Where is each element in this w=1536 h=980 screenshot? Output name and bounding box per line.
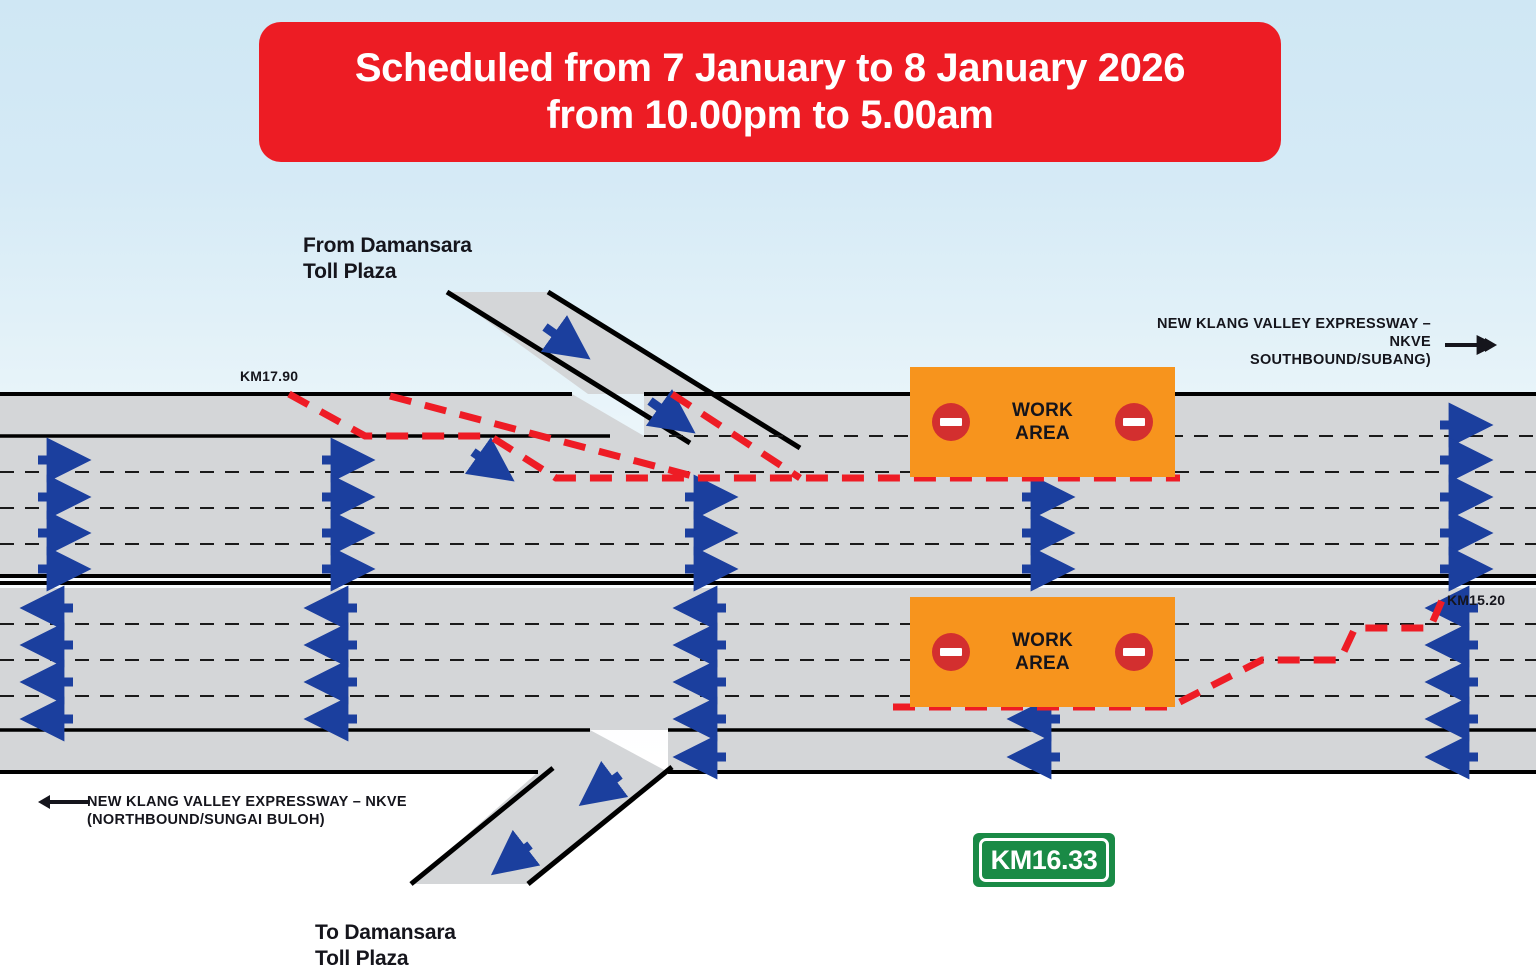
traffic-diversion-diagram: Scheduled from 7 January to 8 January 20… [0,0,1536,980]
direction-arrow-northbound-icon [36,792,92,812]
work-area-northbound: WORK AREA [910,597,1175,707]
label-km-start: KM17.90 [240,368,298,386]
no-entry-icon [1115,403,1153,441]
no-entry-icon [1115,633,1153,671]
km-marker-plate: KM16.33 [973,833,1115,887]
direction-arrow-southbound-icon [1443,335,1499,355]
km-marker-label: KM16.33 [991,845,1098,876]
work-area-southbound: WORK AREA [910,367,1175,477]
no-entry-icon [932,633,970,671]
work-area-label: WORK AREA [1012,399,1073,445]
label-nkve-southbound: NEW KLANG VALLEY EXPRESSWAY – NKVE SOUTH… [1139,315,1431,369]
no-entry-icon [932,403,970,441]
label-km-end: KM15.20 [1447,592,1505,610]
label-from-damansara-toll-plaza: From Damansara Toll Plaza [303,233,472,286]
label-to-damansara-toll-plaza: To Damansara Toll Plaza [315,920,456,973]
label-nkve-northbound: NEW KLANG VALLEY EXPRESSWAY – NKVE (NORT… [87,793,417,829]
road-layout-svg [0,0,1536,980]
work-area-label: WORK AREA [1012,629,1073,675]
